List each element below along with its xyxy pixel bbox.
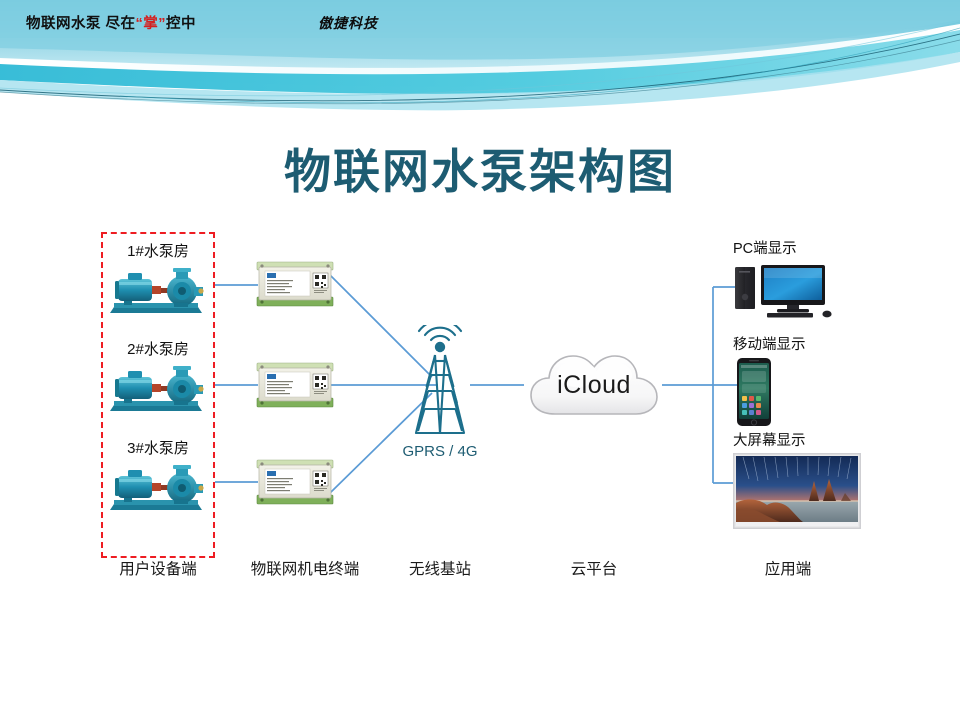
app-pc-display: PC端显示 bbox=[733, 237, 843, 326]
smartphone-icon bbox=[733, 357, 843, 429]
col-iot-terminal: 物联网机电终端 bbox=[222, 557, 388, 579]
app-mobile-display: 移动端显示 bbox=[733, 333, 843, 434]
pump-room-2-label: 2#水泵房 bbox=[94, 338, 222, 359]
pump-room-1: 1#水泵房 bbox=[94, 240, 222, 319]
column-label-row: 用户设备端 物联网机电终端 无线基站 云平台 应用端 bbox=[0, 557, 960, 587]
pump-room-3: 3#水泵房 bbox=[94, 437, 222, 516]
pump-room-2: 2#水泵房 bbox=[94, 338, 222, 417]
slogan-part-2: 控中 bbox=[166, 16, 196, 32]
iot-terminal-icon bbox=[256, 259, 334, 309]
water-pump-icon bbox=[106, 361, 210, 417]
pump-room-1-label: 1#水泵房 bbox=[94, 240, 222, 261]
app-pc-display-label: PC端显示 bbox=[733, 237, 843, 258]
page-title: 物联网水泵架构图 bbox=[0, 133, 960, 202]
architecture-diagram: 1#水泵房 bbox=[0, 215, 960, 595]
water-pump-icon bbox=[106, 460, 210, 516]
slide-canvas: 物联网水泵 尽在“掌”控中 傲捷科技 物联网水泵架构图 bbox=[0, 0, 960, 720]
base-station-label: GPRS / 4G bbox=[376, 443, 504, 460]
large-screen-icon bbox=[733, 453, 861, 529]
iot-terminal-icon bbox=[256, 360, 334, 410]
cell-tower-icon bbox=[392, 325, 488, 445]
iot-terminal-2 bbox=[256, 360, 334, 410]
desktop-pc-icon bbox=[733, 261, 843, 321]
pump-room-3-label: 3#水泵房 bbox=[94, 437, 222, 458]
slogan-quote-close: ” bbox=[158, 16, 166, 32]
col-user-device: 用户设备端 bbox=[98, 557, 218, 579]
cell-tower-graphic bbox=[392, 325, 488, 445]
slogan-part-1: 物联网水泵 尽在 bbox=[26, 16, 136, 32]
app-large-screen-display-label: 大屏幕显示 bbox=[733, 429, 861, 450]
iot-terminal-1 bbox=[256, 259, 334, 309]
water-pump-icon bbox=[106, 263, 210, 319]
iot-terminal-3 bbox=[256, 457, 334, 507]
col-cloud-platform: 云平台 bbox=[528, 557, 660, 579]
iot-terminal-icon bbox=[256, 457, 334, 507]
slogan-highlight: 掌 bbox=[143, 16, 158, 32]
app-large-screen-display: 大屏幕显示 bbox=[733, 429, 861, 534]
col-application: 应用端 bbox=[722, 557, 854, 579]
col-base-station: 无线基站 bbox=[378, 557, 502, 579]
brand-name: 傲捷科技 bbox=[318, 13, 378, 33]
header-slogan: 物联网水泵 尽在“掌”控中 bbox=[26, 12, 196, 33]
cloud-label: iCloud bbox=[519, 371, 669, 400]
app-mobile-display-label: 移动端显示 bbox=[733, 333, 843, 354]
